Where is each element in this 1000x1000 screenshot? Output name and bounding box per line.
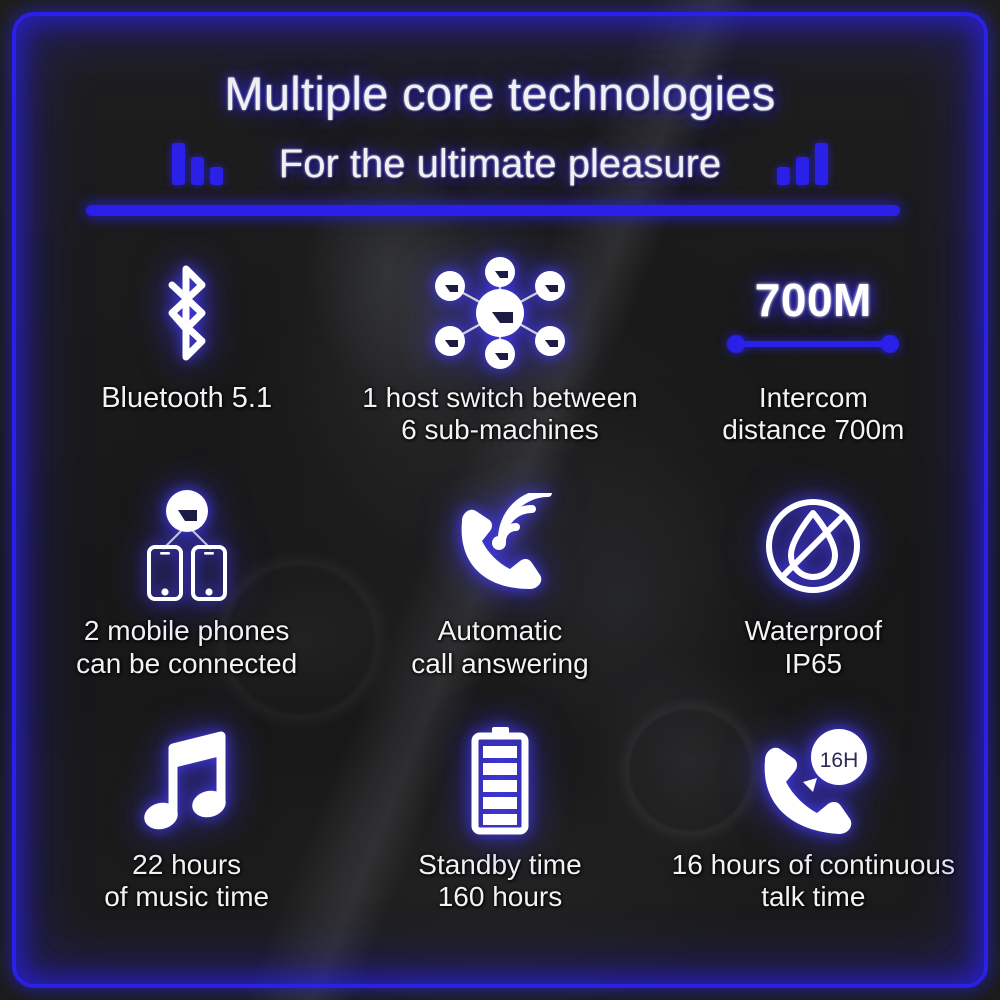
distance-bar bbox=[727, 335, 899, 353]
feature-caption: Waterproof IP65 bbox=[745, 615, 882, 680]
feature-item-waterproof: Waterproof IP65 bbox=[657, 479, 970, 712]
helmet-network-hub-icon bbox=[422, 254, 578, 372]
product-feature-poster: Multiple core technologies For the ultim… bbox=[0, 0, 1000, 1000]
feature-item-music-time: 22 hours of music time bbox=[30, 713, 343, 946]
waterproof-droplet-slash-icon bbox=[760, 487, 866, 605]
feature-item-bluetooth: Bluetooth 5.1 bbox=[30, 246, 343, 479]
feature-item-host-switch: 1 host switch between 6 sub-machines bbox=[343, 246, 656, 479]
distance-value: 700M bbox=[755, 273, 872, 327]
feature-caption: Bluetooth 5.1 bbox=[101, 382, 272, 416]
talk-time-bubble-label: 16H bbox=[820, 749, 859, 772]
phone-talk-time-bubble-icon: 16H bbox=[751, 721, 875, 839]
feature-caption: 16 hours of continuous talk time bbox=[672, 849, 955, 914]
poster-header: Multiple core technologies For the ultim… bbox=[0, 66, 1000, 193]
intercom-distance-bar-icon: 700M bbox=[727, 254, 899, 372]
phone-auto-answer-icon bbox=[444, 487, 556, 605]
feature-caption: 1 host switch between 6 sub-machines bbox=[362, 382, 638, 447]
music-note-icon bbox=[139, 721, 235, 839]
bluetooth-icon bbox=[150, 254, 224, 372]
equalizer-bars-descending-icon bbox=[172, 141, 223, 185]
feature-item-talk-time: 16H 16 hours of continuous talk time bbox=[657, 713, 970, 946]
feature-item-two-phones: 2 mobile phones can be connected bbox=[30, 479, 343, 712]
feature-caption: 22 hours of music time bbox=[104, 849, 269, 914]
equalizer-bars-ascending-icon bbox=[777, 141, 828, 185]
feature-caption: 2 mobile phones can be connected bbox=[76, 615, 297, 680]
feature-grid: Bluetooth 5.1 bbox=[30, 246, 970, 946]
header-divider bbox=[86, 205, 900, 216]
page-title: Multiple core technologies bbox=[0, 66, 1000, 121]
subtitle-row: For the ultimate pleasure bbox=[0, 135, 1000, 193]
distance-endpoint-right-icon bbox=[881, 335, 899, 353]
helmet-two-phones-icon bbox=[127, 487, 247, 605]
feature-item-auto-answer: Automatic call answering bbox=[343, 479, 656, 712]
feature-caption: Intercom distance 700m bbox=[722, 382, 904, 447]
battery-full-icon bbox=[465, 721, 535, 839]
feature-caption: Automatic call answering bbox=[411, 615, 588, 680]
page-subtitle: For the ultimate pleasure bbox=[279, 142, 721, 186]
feature-caption: Standby time 160 hours bbox=[418, 849, 581, 914]
feature-item-standby-time: Standby time 160 hours bbox=[343, 713, 656, 946]
feature-item-intercom-distance: 700M Intercom distance 700m bbox=[657, 246, 970, 479]
distance-line bbox=[735, 341, 891, 347]
